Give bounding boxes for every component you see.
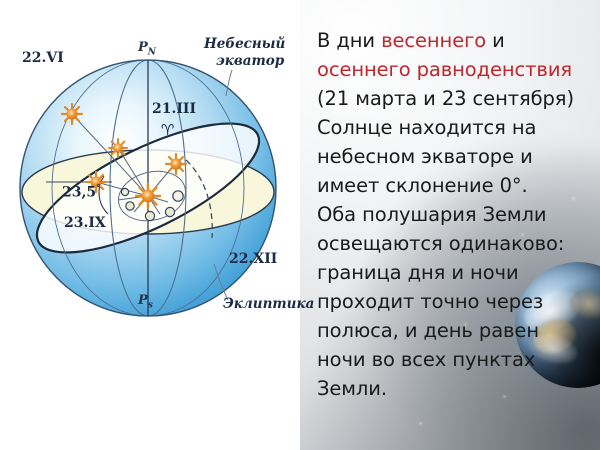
label-north-pole-text: P [138,40,148,55]
paragraph-hemispheres: Оба полушария Земли освещаются одинаково… [317,200,589,403]
label-axial-tilt-degree: ° [96,184,101,194]
label-north-pole-sub: N [148,48,156,58]
label-north-pole: PN [138,40,156,58]
label-summer-solstice: 22.VI [22,50,64,66]
label-celestial-equator-line2: экватор [216,53,285,70]
label-ecliptic: Эклиптика [223,296,314,313]
label-axial-tilt: 23,5° [62,184,101,201]
slide-body-text: В дни весеннего и осеннего равноденствия… [317,26,589,403]
text-run: и [486,29,505,52]
label-axial-tilt-value: 23,5 [62,185,96,201]
aries-symbol-icon: ♈ [161,121,174,139]
label-autumn-equinox: 23.IX [64,215,106,231]
label-south-pole-sub: s [148,301,153,311]
highlight-vernal: весеннего [381,29,486,52]
sun-glyph-summer-solstice [62,104,82,124]
text-run: В дни [317,29,381,52]
sun-glyph-vernal-equinox [166,154,186,174]
label-celestial-equator-line1: Небесный [204,36,285,53]
text-run: (21 марта и 23 сентября) Солнце находитс… [317,87,574,197]
highlight-autumnal-equinox: осеннего равноденствия [317,58,572,81]
label-south-pole: Ps [138,293,153,311]
slide-canvas: В дни весеннего и осеннего равноденствия… [0,0,600,450]
label-south-pole-text: P [138,293,148,308]
celestial-sphere-diagram: PN Ps Небесный экватор Эклиптика 22.VI 2… [0,0,310,340]
paragraph-equinox-definition: В дни весеннего и осеннего равноденствия… [317,26,589,200]
label-vernal-equinox: 21.III [152,101,196,117]
sun-glyph-center [136,184,160,208]
label-celestial-equator: Небесный экватор [204,36,285,70]
label-winter-solstice: 22.XII [229,251,277,267]
sun-glyph-upper [109,139,127,157]
